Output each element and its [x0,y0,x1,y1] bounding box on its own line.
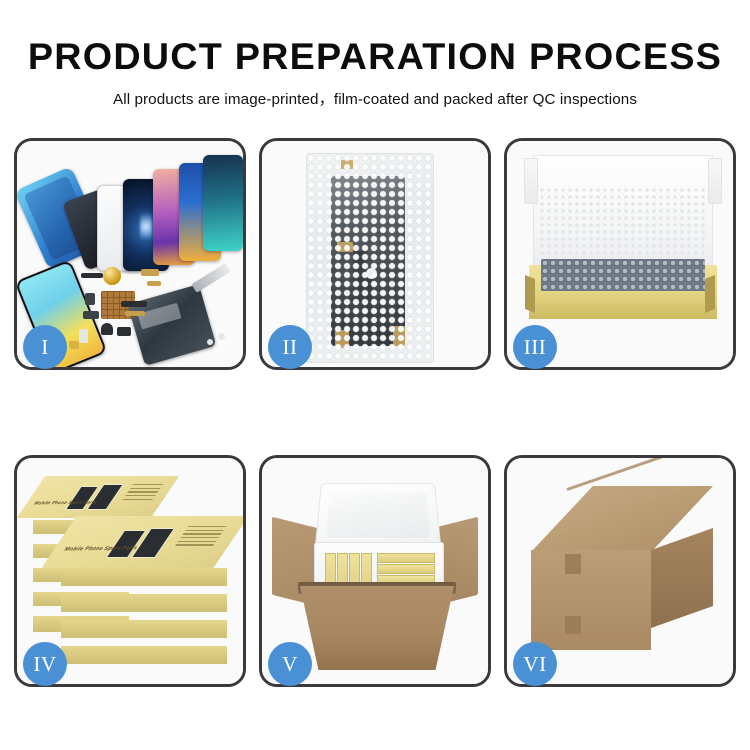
step-badge-1: I [23,325,67,369]
page-subtitle: All products are image-printed，film-coat… [0,87,750,109]
phone-display-teal [203,155,243,251]
screw-part [207,339,213,345]
carton-tab [565,554,581,574]
phone-chassis [128,284,217,366]
small-part [85,293,95,305]
bubble-wrap-bag [306,153,434,363]
steps-grid: I II [14,138,736,687]
bubble-wrapped-contents [541,259,705,295]
speaker-component [103,267,121,285]
stacked-box-edge [61,646,227,664]
carton-front-face [531,550,651,650]
step-badge-3: III [513,325,557,369]
box-front-panel [529,291,717,319]
header: PRODUCT PREPARATION PROCESS All products… [0,0,750,109]
step-card-1[interactable]: I [14,138,246,370]
infographic-page: PRODUCT PREPARATION PROCESS All products… [0,0,750,750]
small-part [141,269,159,276]
step-card-3[interactable]: III [504,138,736,370]
carton-body [300,586,454,670]
step-badge-2: II [268,325,312,369]
bubble-texture [307,154,433,362]
yellow-box-item [377,553,435,563]
yellow-box-item [377,564,435,574]
tweezers-tool [191,263,230,293]
stacked-box-top: Mobile Phone Spare Parts [31,476,165,518]
carton-tape-seam [567,458,683,491]
stacked-box-edge [61,620,227,638]
step-badge-4: IV [23,642,67,686]
small-part [79,329,88,343]
screw-part [218,333,225,340]
small-part [81,273,103,278]
small-part [101,323,113,335]
box-right-edge [705,275,715,313]
step-card-4[interactable]: Mobile Phone Spare Parts [14,455,246,687]
step-badge-5: V [268,642,312,686]
small-part [69,341,79,349]
step-badge-6: VI [513,642,557,686]
small-part [147,281,161,286]
step-card-5[interactable]: V [259,455,491,687]
small-part [117,327,131,336]
foam-cooler-lid [315,483,442,548]
step-card-6[interactable]: VI [504,455,736,687]
small-part [83,311,99,319]
carton-side-face [651,528,713,628]
stacked-box-edge [61,568,227,586]
small-part [121,301,147,307]
stacked-box-edge [61,594,227,612]
stacked-box-top: Mobile Phone Spare Parts [59,516,231,568]
small-part [125,311,145,316]
carton-tab [565,616,581,634]
page-title: PRODUCT PREPARATION PROCESS [0,38,750,77]
step-card-2[interactable]: II [259,138,491,370]
box-left-edge [525,275,535,313]
